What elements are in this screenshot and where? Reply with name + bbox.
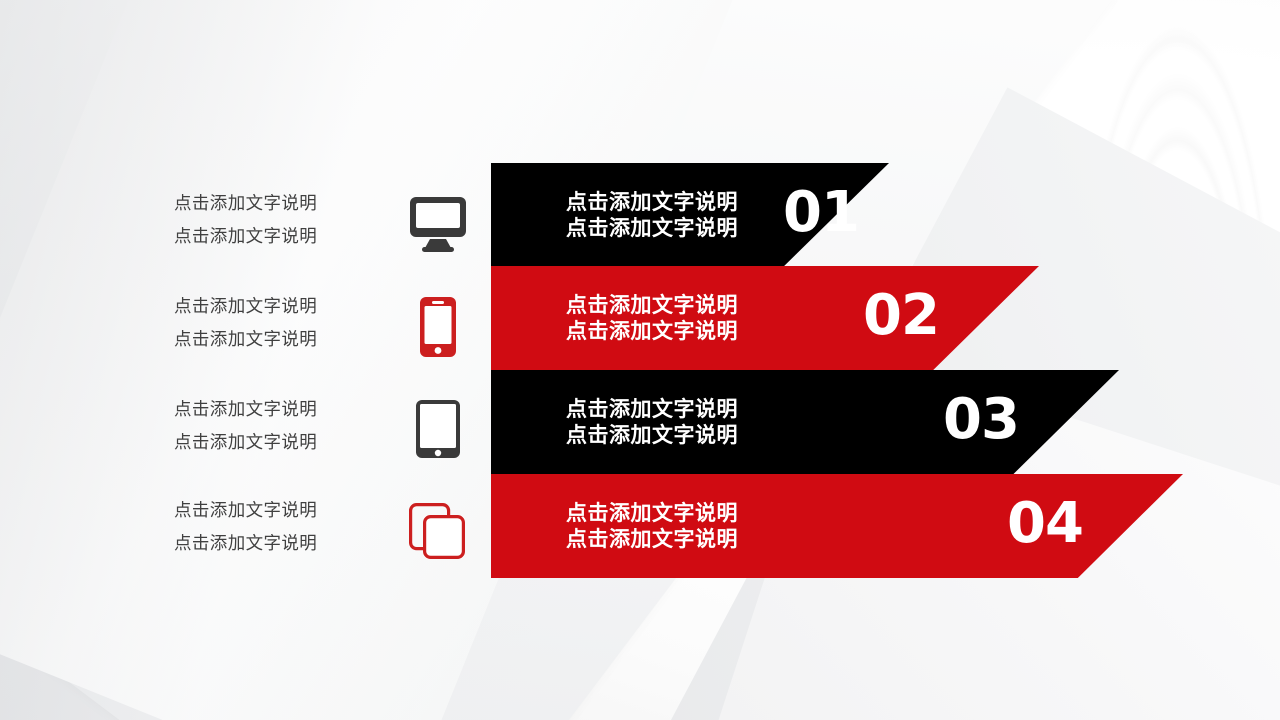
banner-row-02-body: 点击添加文字说明 点击添加文字说明 02 (491, 266, 1039, 370)
banner-row-01[interactable]: 点击添加文字说明 点击添加文字说明 01 (491, 163, 889, 267)
banner-row-02-text: 点击添加文字说明 点击添加文字说明 (537, 292, 767, 344)
banner-row-04-line-2: 点击添加文字说明 (537, 526, 767, 552)
tablet-icon (403, 394, 473, 464)
desktop-monitor-icon (403, 189, 473, 259)
banner-row-01-line-1: 点击添加文字说明 (537, 189, 767, 215)
banner-row-01-text: 点击添加文字说明 点击添加文字说明 (537, 189, 767, 241)
copy-stack-icon (403, 497, 473, 567)
banner-row-04-text: 点击添加文字说明 点击添加文字说明 (537, 500, 767, 552)
banner-row-02[interactable]: 点击添加文字说明 点击添加文字说明 02 (491, 266, 1039, 370)
banner-row-04-body: 点击添加文字说明 点击添加文字说明 04 (491, 474, 1183, 578)
banner-row-03-number: 03 (943, 392, 1019, 448)
banner-row-03-body: 点击添加文字说明 点击添加文字说明 03 (491, 370, 1119, 474)
banner-row-02-line-1: 点击添加文字说明 (537, 292, 767, 318)
banner-row-03-line-1: 点击添加文字说明 (537, 396, 767, 422)
banner-row-02-line-2: 点击添加文字说明 (537, 318, 767, 344)
banner-row-03-line-2: 点击添加文字说明 (537, 422, 767, 448)
slide-canvas: 点击添加文字说明 点击添加文字说明 点击添加文字说明 点击添加文字说明 点击添加… (0, 0, 1280, 720)
banner-row-04-number: 04 (1007, 496, 1083, 552)
banner-row-01-line-2: 点击添加文字说明 (537, 215, 767, 241)
banner-row-02-number: 02 (863, 288, 939, 344)
banner-row-03[interactable]: 点击添加文字说明 点击添加文字说明 03 (491, 370, 1119, 474)
banner-row-04[interactable]: 点击添加文字说明 点击添加文字说明 04 (491, 474, 1183, 578)
banner-row-01-body: 点击添加文字说明 点击添加文字说明 01 (491, 163, 889, 267)
content-rows: 点击添加文字说明 点击添加文字说明 点击添加文字说明 点击添加文字说明 点击添加… (0, 0, 1280, 720)
banner-row-03-text: 点击添加文字说明 点击添加文字说明 (537, 396, 767, 448)
banner-row-01-number: 01 (783, 185, 859, 241)
banner-row-04-line-1: 点击添加文字说明 (537, 500, 767, 526)
smartphone-icon (403, 292, 473, 362)
